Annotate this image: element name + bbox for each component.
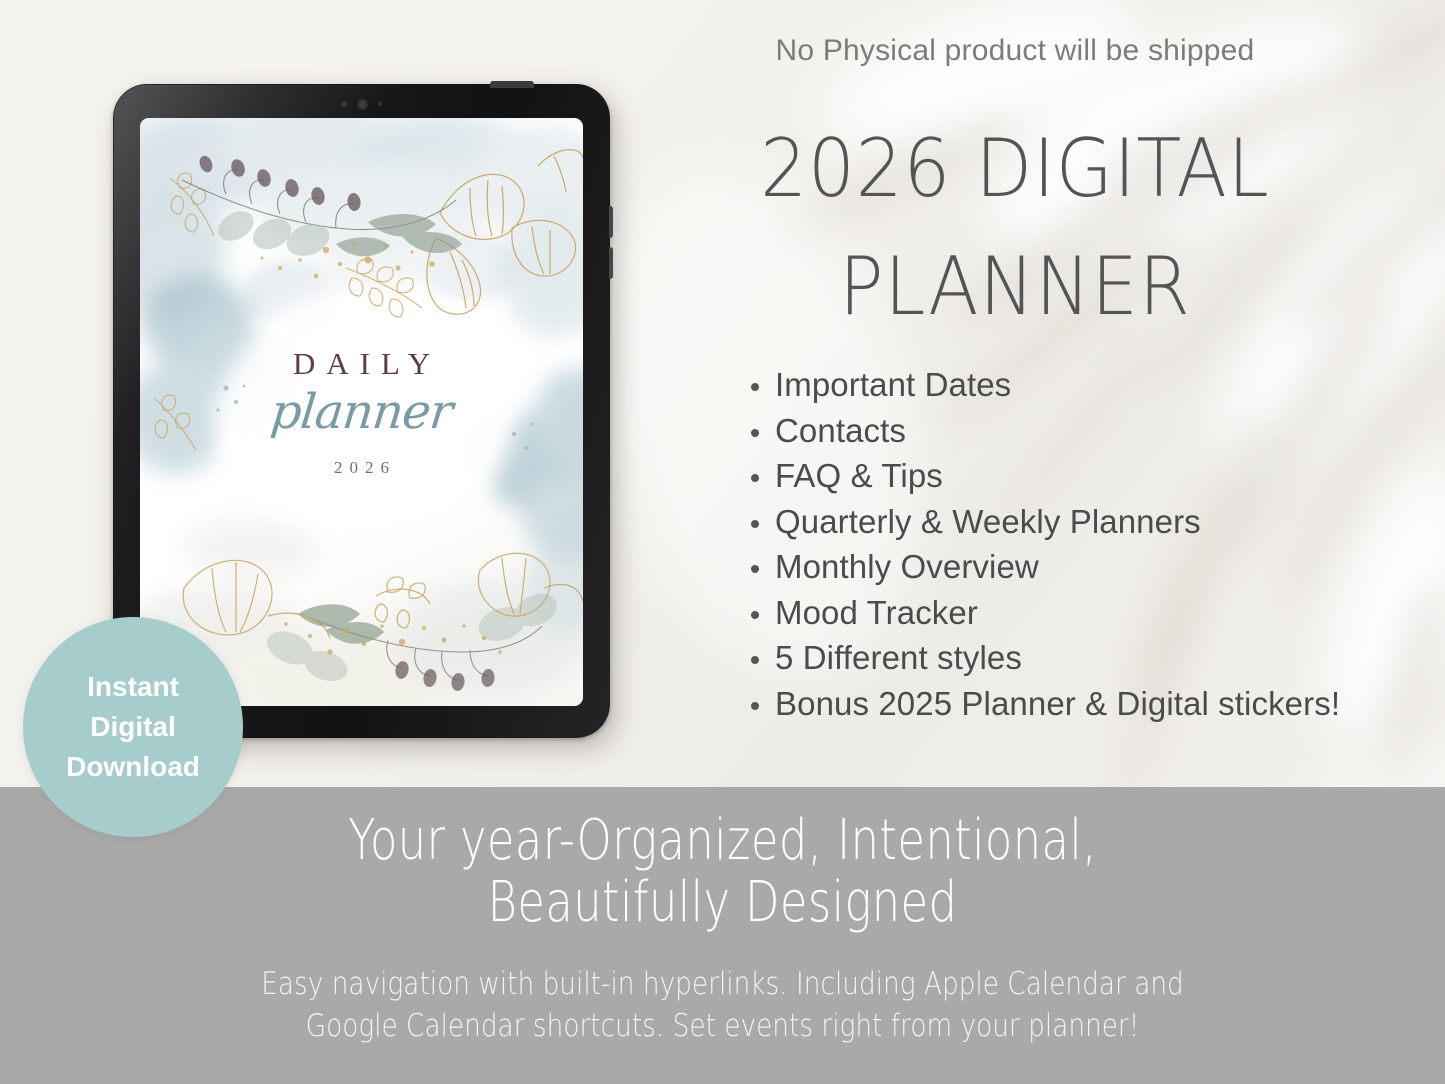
page-title-line-2: PLANNER <box>716 228 1314 346</box>
list-item: FAQ & Tips <box>745 453 1345 499</box>
front-camera-array <box>113 98 610 110</box>
badge-line-3: Download <box>66 747 200 787</box>
bottom-banner: Your year-Organized, Intentional, Beauti… <box>0 787 1445 1084</box>
list-item: Quarterly & Weekly Planners <box>745 499 1345 545</box>
sensor-dot-icon <box>341 101 347 107</box>
list-item: 5 Different styles <box>745 635 1345 681</box>
banner-subtext-line-1: Easy navigation with built-in hyperlinks… <box>108 963 1336 1005</box>
cover-title: DAILY <box>140 346 583 382</box>
feature-list: Important Dates Contacts FAQ & Tips Quar… <box>745 362 1345 726</box>
cover-text-block: DAILY planner 2026 <box>140 346 583 478</box>
list-item: Mood Tracker <box>745 590 1345 636</box>
banner-headline-line-1: Your year-Organized, Intentional, <box>145 810 1301 872</box>
banner-headline: Your year-Organized, Intentional, Beauti… <box>145 810 1301 934</box>
page-title: 2026 DIGITAL PLANNER <box>716 110 1314 347</box>
indicator-dot-icon <box>378 102 382 106</box>
power-button-icon[interactable] <box>490 81 534 88</box>
tablet-screen: DAILY planner 2026 <box>140 118 583 706</box>
volume-up-button-icon[interactable] <box>609 206 613 238</box>
camera-lens-icon <box>357 99 368 110</box>
banner-headline-line-2: Beautifully Designed <box>145 872 1301 934</box>
no-physical-product-note: No Physical product will be shipped <box>690 34 1340 68</box>
list-item: Monthly Overview <box>745 544 1345 590</box>
cover-year: 2026 <box>140 458 583 478</box>
cover-script-word: planner <box>140 384 583 440</box>
badge-line-2: Digital <box>90 707 176 747</box>
banner-subtext-line-2: Google Calendar shortcuts. Set events ri… <box>108 1005 1336 1047</box>
volume-down-button-icon[interactable] <box>609 247 613 279</box>
instant-download-badge: Instant Digital Download <box>23 617 243 837</box>
list-item: Bonus 2025 Planner & Digital stickers! <box>745 681 1345 727</box>
page-title-line-1: 2026 DIGITAL <box>716 110 1314 228</box>
banner-subtext: Easy navigation with built-in hyperlinks… <box>108 963 1336 1047</box>
list-item: Important Dates <box>745 362 1345 408</box>
list-item: Contacts <box>745 408 1345 454</box>
badge-line-1: Instant <box>87 667 179 707</box>
